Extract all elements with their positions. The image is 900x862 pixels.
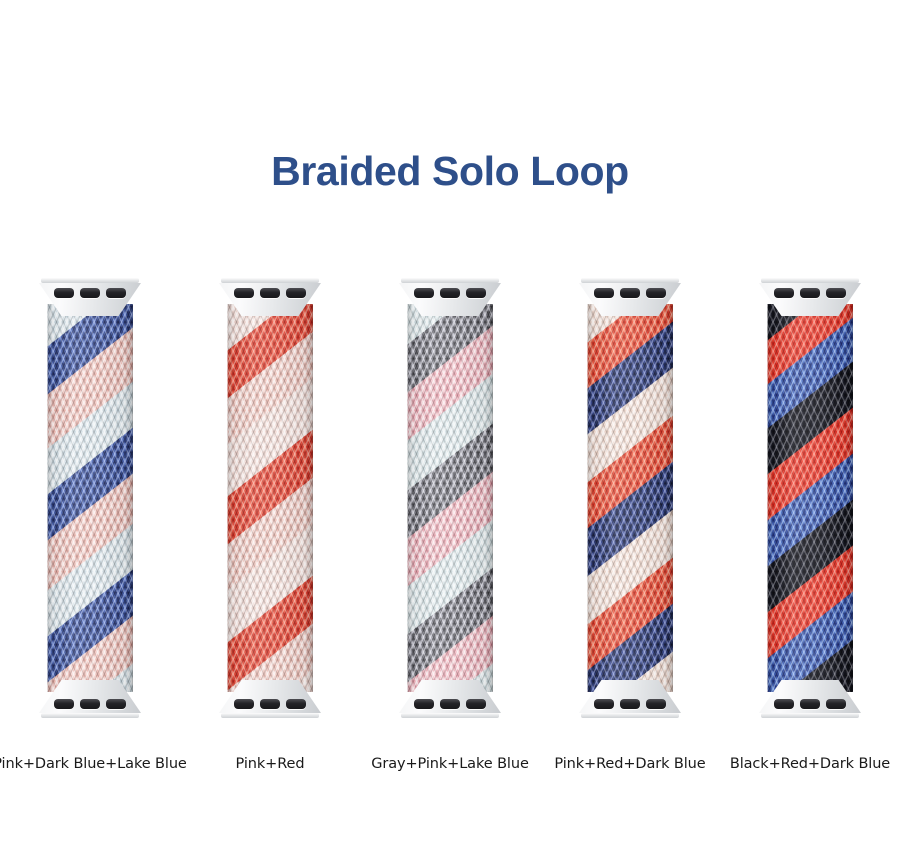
lug-slot xyxy=(774,288,794,298)
product-color-label: Pink+Red xyxy=(168,756,372,772)
lug-slot-group xyxy=(414,698,486,709)
lug-rail xyxy=(761,278,859,283)
braided-strap xyxy=(407,304,493,692)
product-card[interactable]: Pink+Red+Dark Blue xyxy=(540,268,720,788)
lug-slot xyxy=(620,699,640,709)
watch-band xyxy=(385,268,515,728)
product-card[interactable]: Pink+Dark Blue+Lake Blue xyxy=(0,268,180,788)
lug-rail xyxy=(41,713,139,718)
lug-slot xyxy=(594,288,614,298)
lug-slot xyxy=(594,699,614,709)
lug-slot xyxy=(234,288,254,298)
lug-slot xyxy=(440,699,460,709)
watch-band xyxy=(565,268,695,728)
braided-strap xyxy=(227,304,313,692)
braided-strap xyxy=(587,304,673,692)
page-title: Braided Solo Loop xyxy=(0,148,900,195)
braided-strap xyxy=(767,304,853,692)
weave-chevron-overlay xyxy=(227,304,313,692)
weave-chevron-overlay xyxy=(767,304,853,692)
watch-lug-connector-top xyxy=(219,278,321,316)
lug-slot-group xyxy=(594,287,666,298)
lug-rail xyxy=(401,713,499,718)
lug-slot-group xyxy=(414,287,486,298)
watch-lug-connector-top xyxy=(759,278,861,316)
product-color-label: Black+Red+Dark Blue xyxy=(708,756,900,772)
lug-slot xyxy=(54,699,74,709)
watch-band xyxy=(25,268,155,728)
braided-strap xyxy=(47,304,133,692)
lug-slot xyxy=(466,288,486,298)
lug-rail xyxy=(221,713,319,718)
lug-slot xyxy=(260,288,280,298)
lug-slot xyxy=(106,699,126,709)
lug-slot xyxy=(414,288,434,298)
lug-slot xyxy=(646,699,666,709)
lug-rail xyxy=(581,713,679,718)
lug-slot-group xyxy=(774,698,846,709)
lug-slot xyxy=(826,699,846,709)
lug-slot-group xyxy=(594,698,666,709)
lug-rail xyxy=(401,278,499,283)
product-color-label: Pink+Dark Blue+Lake Blue xyxy=(0,756,192,772)
lug-slot-group xyxy=(54,287,126,298)
lug-slot xyxy=(80,288,100,298)
lug-slot xyxy=(800,699,820,709)
lug-slot xyxy=(774,699,794,709)
lug-slot xyxy=(620,288,640,298)
watch-lug-connector-bottom xyxy=(39,680,141,718)
product-color-label: Gray+Pink+Lake Blue xyxy=(348,756,552,772)
watch-lug-connector-bottom xyxy=(759,680,861,718)
lug-slot xyxy=(646,288,666,298)
lug-slot-group xyxy=(234,287,306,298)
watch-lug-connector-bottom xyxy=(579,680,681,718)
lug-slot xyxy=(286,288,306,298)
weave-chevron-overlay xyxy=(407,304,493,692)
watch-lug-connector-bottom xyxy=(219,680,321,718)
lug-slot-group xyxy=(774,287,846,298)
lug-slot xyxy=(260,699,280,709)
lug-slot-group xyxy=(234,698,306,709)
lug-slot-group xyxy=(54,698,126,709)
product-card[interactable]: Black+Red+Dark Blue xyxy=(720,268,900,788)
watch-lug-connector-top xyxy=(39,278,141,316)
watch-lug-connector-top xyxy=(399,278,501,316)
lug-rail xyxy=(761,713,859,718)
lug-rail xyxy=(221,278,319,283)
lug-slot xyxy=(234,699,254,709)
product-card[interactable]: Pink+Red xyxy=(180,268,360,788)
lug-slot xyxy=(466,699,486,709)
watch-lug-connector-bottom xyxy=(399,680,501,718)
watch-band xyxy=(745,268,875,728)
product-gallery: Pink+Dark Blue+Lake BluePink+RedGray+Pin… xyxy=(0,268,900,788)
lug-slot xyxy=(414,699,434,709)
product-card[interactable]: Gray+Pink+Lake Blue xyxy=(360,268,540,788)
lug-slot xyxy=(80,699,100,709)
weave-chevron-overlay xyxy=(587,304,673,692)
lug-slot xyxy=(800,288,820,298)
lug-slot xyxy=(106,288,126,298)
lug-slot xyxy=(826,288,846,298)
lug-slot xyxy=(54,288,74,298)
weave-chevron-overlay xyxy=(47,304,133,692)
product-color-label: Pink+Red+Dark Blue xyxy=(528,756,732,772)
lug-rail xyxy=(581,278,679,283)
lug-rail xyxy=(41,278,139,283)
lug-slot xyxy=(286,699,306,709)
watch-lug-connector-top xyxy=(579,278,681,316)
lug-slot xyxy=(440,288,460,298)
watch-band xyxy=(205,268,335,728)
